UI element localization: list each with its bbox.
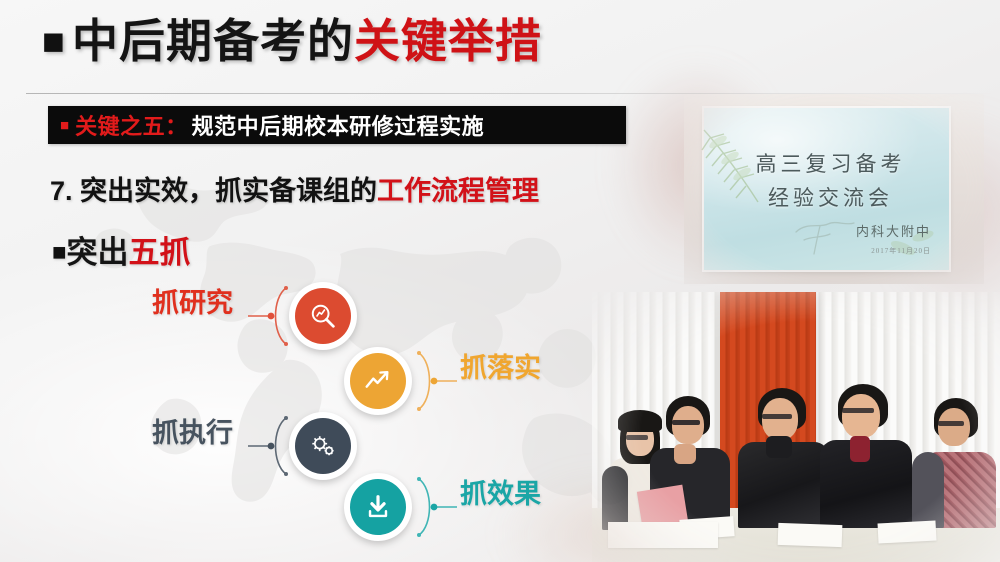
- connector-research: [246, 286, 292, 346]
- screen-signature: 内科大附中: [856, 221, 931, 240]
- node-disc-execution[interactable]: [289, 412, 357, 480]
- node-label-effect: 抓效果: [460, 481, 541, 508]
- slide-canvas: ■中后期备考的关键举措 ■关键之五：规范中后期校本研修过程实施 7. 突出实效，…: [0, 0, 1000, 562]
- trending-up-icon: [350, 353, 406, 409]
- connector-implementation: [413, 351, 459, 411]
- audience-person-5: [918, 396, 998, 526]
- audience-meeting-photo: [592, 292, 1000, 562]
- projection-screen-photo: 高三复习备考 经验交流会 内科大附中 2017年11月20日: [684, 94, 984, 284]
- screen-title-line1: 高三复习备考: [738, 148, 923, 178]
- node-label-implementation: 抓落实: [460, 355, 541, 382]
- audience-person-4: [820, 384, 912, 526]
- paper-2: [778, 523, 843, 547]
- node-disc-research[interactable]: [289, 282, 357, 350]
- screen-title-line2: 经验交流会: [738, 182, 923, 212]
- node-disc-effect[interactable]: [344, 473, 412, 541]
- magnifier-chart-icon: [295, 288, 351, 344]
- paper-3: [878, 520, 937, 543]
- projection-screen: 高三复习备考 经验交流会 内科大附中 2017年11月20日: [704, 108, 949, 270]
- audience-person-3: [738, 386, 830, 526]
- connector-effect: [413, 477, 459, 537]
- node-label-execution: 抓执行: [152, 420, 233, 447]
- node-disc-implementation[interactable]: [344, 347, 412, 415]
- screen-date: 2017年11月20日: [871, 246, 931, 256]
- download-icon: [350, 479, 406, 535]
- paper-4: [608, 522, 718, 548]
- node-label-research: 抓研究: [152, 290, 233, 317]
- gears-icon: [295, 418, 351, 474]
- five-grasps-infographic: 抓研究: [0, 0, 620, 562]
- connector-execution: [246, 416, 292, 476]
